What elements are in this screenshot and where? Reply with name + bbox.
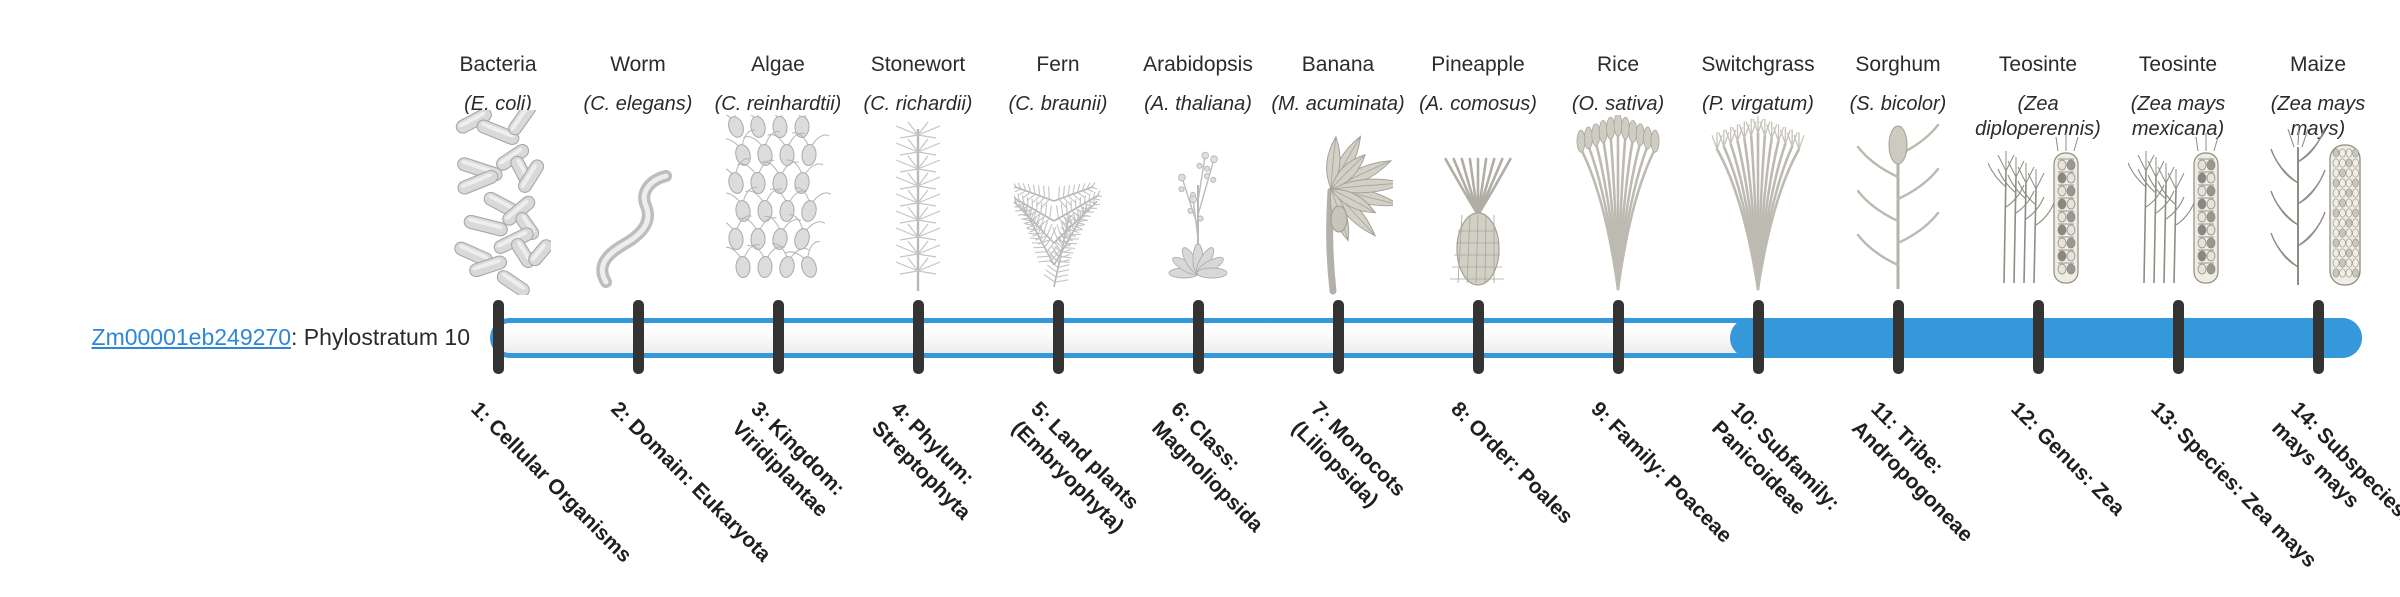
species-common-name: Pineapple [1408, 52, 1548, 78]
phylostratigraphy-figure: Zm00001eb249270: Phylostratum 10 Bacteri… [0, 0, 2400, 580]
species-column-9: Rice(O. sativa) [1548, 52, 1688, 117]
phylostratum-tick-14[interactable] [2313, 300, 2324, 374]
phylostratum-value-text: Phylostratum 10 [304, 324, 470, 350]
species-scientific-name: (C. braunii) [988, 92, 1128, 117]
phylostratum-tick-1[interactable] [493, 300, 504, 374]
phylostratum-tick-5[interactable] [1053, 300, 1064, 374]
rank-text: Phylum: Streptophyta [867, 415, 978, 525]
phylostratum-tick-3[interactable] [773, 300, 784, 374]
phylostratum-tick-9[interactable] [1613, 300, 1624, 374]
track-filled-range [1730, 318, 2362, 358]
species-common-name: Maize [2248, 52, 2388, 78]
gene-label-separator: : [291, 324, 304, 350]
species-scientific-name: (A. thaliana) [1128, 92, 1268, 117]
teosinte-plant-ear-icon [1968, 170, 2108, 295]
rank-text: Subfamily: Panicoideae [1707, 417, 1844, 520]
species-scientific-name: (P. virgatum) [1688, 92, 1828, 117]
species-scientific-name: (C. reinhardtii) [708, 92, 848, 117]
species-scientific-name: (S. bicolor) [1828, 92, 1968, 117]
species-common-name: Stonewort [848, 52, 988, 78]
species-column-7: Banana(M. acuminata) [1268, 52, 1408, 117]
species-column-5: Fern(C. braunii) [988, 52, 1128, 117]
algae-cells-icon [708, 170, 848, 295]
stonewort-icon [848, 170, 988, 295]
species-column-10: Switchgrass(P. virgatum) [1688, 52, 1828, 117]
species-scientific-name: (M. acuminata) [1268, 92, 1408, 117]
rank-number: 12: [2006, 397, 2044, 435]
species-scientific-name: (O. sativa) [1548, 92, 1688, 117]
rice-plant-icon [1548, 170, 1688, 295]
fern-frond-icon [988, 170, 1128, 295]
species-column-2: Worm(C. elegans) [568, 52, 708, 117]
gene-phylostratum-label: Zm00001eb249270: Phylostratum 10 [40, 322, 470, 352]
phylostratum-tick-10[interactable] [1753, 300, 1764, 374]
nematode-worm-icon [568, 170, 708, 295]
species-common-name: Algae [708, 52, 848, 78]
rank-text: Order: Poales [1464, 415, 1578, 529]
species-column-3: Algae(C. reinhardtii) [708, 52, 848, 117]
bacteria-rods-icon [428, 170, 568, 295]
gene-id-link[interactable]: Zm00001eb249270 [92, 324, 292, 350]
phylostratum-track[interactable] [490, 318, 2362, 358]
species-column-8: Pineapple(A. comosus) [1408, 52, 1548, 117]
species-column-6: Arabidopsis(A. thaliana) [1128, 52, 1268, 117]
species-column-11: Sorghum(S. bicolor) [1828, 52, 1968, 117]
species-common-name: Sorghum [1828, 52, 1968, 78]
species-column-4: Stonewort(C. richardii) [848, 52, 988, 117]
species-scientific-name: (C. richardii) [848, 92, 988, 117]
rank-text: Kingdom: Viridiplantae [727, 415, 849, 522]
rank-number: 13: [2146, 397, 2184, 435]
phylostratum-tick-13[interactable] [2173, 300, 2184, 374]
rank-text: Genus: Zea [2032, 423, 2129, 520]
phylostratum-tick-4[interactable] [913, 300, 924, 374]
rank-text: Cellular Organisms [484, 415, 636, 567]
phylostratum-tick-2[interactable] [633, 300, 644, 374]
rank-text: Monocots (Liliopsida) [1287, 415, 1410, 512]
maize-plant-cob-icon [2248, 170, 2388, 295]
species-common-name: Switchgrass [1688, 52, 1828, 78]
phylostratum-tick-12[interactable] [2033, 300, 2044, 374]
species-common-name: Worm [568, 52, 708, 78]
phylostratum-tick-6[interactable] [1193, 300, 1204, 374]
species-common-name: Teosinte [1968, 52, 2108, 78]
banana-plant-icon [1268, 170, 1408, 295]
rank-label-14: 14: Subspecies: Zea mays mays [2266, 396, 2400, 597]
phylostratum-tick-11[interactable] [1893, 300, 1904, 374]
arabidopsis-icon [1128, 170, 1268, 295]
species-scientific-name: (C. elegans) [568, 92, 708, 117]
species-common-name: Arabidopsis [1128, 52, 1268, 78]
pineapple-icon [1408, 170, 1548, 295]
species-column-1: Bacteria(E. coli) [428, 52, 568, 117]
species-common-name: Rice [1548, 52, 1688, 78]
species-common-name: Bacteria [428, 52, 568, 78]
switchgrass-icon [1688, 170, 1828, 295]
teosinte-plant-ear-icon [2108, 170, 2248, 295]
species-common-name: Teosinte [2108, 52, 2248, 78]
phylostratum-tick-8[interactable] [1473, 300, 1484, 374]
species-scientific-name: (A. comosus) [1408, 92, 1548, 117]
sorghum-icon [1828, 170, 1968, 295]
phylostratum-tick-7[interactable] [1333, 300, 1344, 374]
species-common-name: Fern [988, 52, 1128, 78]
species-common-name: Banana [1268, 52, 1408, 78]
